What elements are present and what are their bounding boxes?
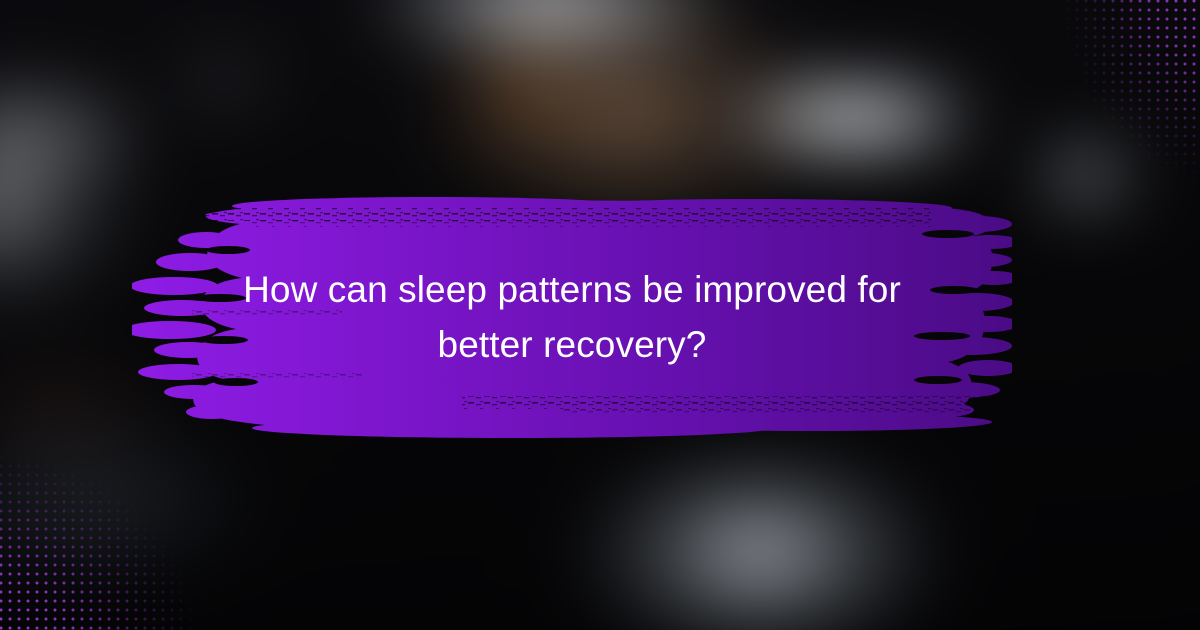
- page-title: How can sleep patterns be improved for b…: [222, 263, 922, 373]
- share-card: How can sleep patterns be improved for b…: [0, 0, 1200, 630]
- headline-banner: How can sleep patterns be improved for b…: [132, 190, 1012, 445]
- headline-text-block: How can sleep patterns be improved for b…: [132, 190, 1012, 445]
